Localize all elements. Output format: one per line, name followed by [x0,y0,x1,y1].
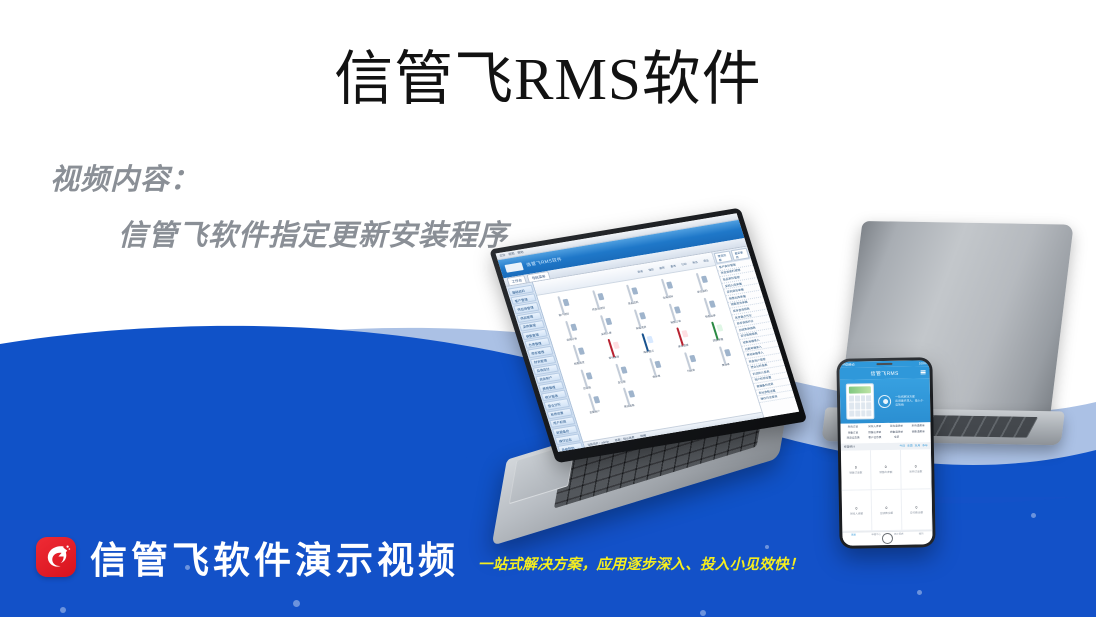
module-icon[interactable]: 营业报表 [608,386,646,411]
phone-earpiece [876,363,892,365]
phone-module-item[interactable]: 销售退货单 [886,431,907,434]
phone-module-item[interactable]: 商品信息表 [843,438,864,441]
module-tile-icon [615,364,623,382]
module-icon[interactable]: 销售退货 [558,343,596,368]
phone-module-item[interactable]: 销售出库单 [864,432,885,435]
module-tile-icon [677,328,685,346]
module-tile-icon [642,333,650,351]
range-year[interactable]: 本年 [922,444,928,448]
menu-help[interactable]: 帮助 [517,250,524,254]
module-icon[interactable]: 收款单 [635,356,673,381]
module-tile-icon [592,290,600,308]
module-icon[interactable]: 库存查询 [593,338,631,363]
phone-module-grid: 采购订单 采购入库单 采购退货单 采购退款单 销售订单 销售出库单 销售退货单 … [840,422,930,443]
module-tile-icon [669,303,677,321]
phone-hero-banner: 一站式解决方案 应用逐步深入、投入小见效快 [840,378,931,424]
app-logo-icon [504,262,523,272]
stat-cell: 0销售出库额 [871,450,902,491]
module-icon[interactable]: 职员资料 [681,271,719,296]
module-tile-icon [588,394,596,412]
stat-cell: 0采购订单数 [901,449,932,490]
phone-module-item[interactable]: 采购入库单 [864,426,885,429]
module-tile-icon [696,273,704,291]
module-icon[interactable]: 付款单 [670,350,708,375]
phone-battery: 100% [919,361,927,365]
bottom-banner: 信管飞软件演示视频 一站式解决方案，应用逐步深入、投入小见效快！ [0,497,1096,617]
thumbnail-grid [849,395,872,417]
module-icon[interactable]: 资金账户 [573,392,611,417]
range-week[interactable]: 本周 [907,444,913,448]
module-icon[interactable]: 库存盘点 [627,332,665,357]
hamburger-menu-icon[interactable] [921,370,926,374]
toolbar-button-search[interactable]: 查询 [669,263,677,268]
module-icon[interactable]: 调拨单据 [697,320,735,345]
range-today[interactable]: 今日 [899,444,905,448]
primary-laptop: 文件 视图 帮助 信管飞RMS软件 工作台 导航菜单 基础资 [481,216,796,521]
video-content-value: 信管飞软件指定更新安装程序 [118,216,508,257]
module-tile-icon [650,358,658,376]
module-icon[interactable]: 客户资料 [543,295,581,320]
module-tile-icon [704,297,712,315]
module-icon[interactable]: 应收款 [566,368,604,393]
module-tile-icon [565,321,573,339]
slide-canvas: 信管飞RMS软件 视频内容： 信管飞软件指定更新安装程序 文件 视图 帮助 [0,0,1096,617]
menu-file[interactable]: 文件 [499,253,506,257]
module-tile-icon [684,352,692,370]
toolbar-button-edit[interactable]: 修改 [647,267,655,272]
banner-tagline: 一站式解决方案，应用逐步深入、投入小见效快！ [478,553,804,574]
status-state: 就绪 [640,433,647,438]
module-icon[interactable]: 费用单 [704,345,742,370]
phone-stats-title: 经营统计 [844,445,855,449]
module-icon[interactable]: 商品资料 [612,283,650,308]
module-tile-icon [607,339,615,357]
phone-app-header: 信管飞RMS [840,366,930,380]
phone-module-item[interactable]: 采购订单 [843,426,864,429]
banner-brand-text: 信管飞软件演示视频 [90,530,459,584]
phone-module-item[interactable]: 采购退款单 [908,425,929,428]
module-tile-icon [623,388,631,406]
module-icon[interactable]: 采购订单 [550,319,588,344]
range-month[interactable]: 本月 [915,444,921,448]
toolbar-button-add[interactable]: 新增 [636,269,644,274]
video-content-label: 视频内容： [50,160,508,201]
page-title: 信管飞RMS软件 [0,43,1096,115]
module-icon[interactable]: 仓库资料 [647,277,685,302]
thumbnail-header-bar [849,386,871,393]
video-content-block: 视频内容： 信管飞软件指定更新安装程序 [50,160,508,257]
module-tile-icon [557,296,565,314]
module-tile-icon [711,322,719,340]
laptop-screen: 文件 视图 帮助 信管飞RMS软件 工作台 导航菜单 基础资 [496,213,800,452]
menu-view[interactable]: 视图 [508,252,515,256]
phone-range-pills: 今日 本周 本月 本年 [899,444,928,448]
phone-module-item[interactable]: 销售退款单 [908,431,929,434]
toolbar-button-exit[interactable]: 退出 [702,258,710,263]
module-tile-icon [719,346,727,364]
module-icon[interactable]: 应付款 [600,362,638,387]
phone-module-item[interactable]: 全部 [886,437,907,440]
toolbar-button-export[interactable]: 导出 [691,259,699,264]
module-icon[interactable]: 采购退货 [620,307,658,332]
module-tile-icon [627,285,635,303]
phone-carrier: 中国移动 [842,363,854,367]
module-icon[interactable]: 供应商资料 [577,289,615,314]
stat-cell: 0销售订单数 [841,450,872,491]
phone-banner-line2: 应用逐步深入、投入小见效快 [895,398,923,406]
phone-module-item[interactable]: 客户信息表 [864,437,885,440]
module-tile-icon [634,309,642,327]
screenshot-thumbnail [846,383,875,419]
module-tile-icon [661,279,669,297]
app-header-caption: 信管飞RMS软件 [526,256,563,268]
module-icon[interactable]: 库存调拨 [662,326,700,351]
phone-module-item[interactable]: 采购退货单 [886,426,907,429]
play-badge-icon [878,394,891,407]
toolbar-button-delete[interactable]: 删除 [658,265,666,270]
module-icon-grid: 客户资料 供应商资料 商品资料 仓库资料 职员资料 采购订单 采购入库 采购退货… [537,266,755,423]
feiyun-logo-icon [36,537,76,577]
status-user: 当前用户：admin [587,439,610,446]
phone-app-title: 信管飞RMS [871,369,899,376]
module-tile-icon [580,369,588,387]
phone-module-item[interactable]: 销售订单 [843,432,864,435]
status-book: 账套：默认账套 [614,435,635,442]
phone-banner-text: 一站式解决方案 应用逐步深入、投入小见效快 [895,394,924,407]
primary-laptop-lid: 文件 视图 帮助 信管飞RMS软件 工作台 导航菜单 基础资 [489,208,807,464]
module-icon[interactable]: 销售出库 [689,296,727,321]
module-tile-icon [573,345,581,363]
module-icon[interactable]: 销售订单 [654,302,692,327]
module-icon[interactable]: 采购入库 [585,313,623,338]
module-tile-icon [600,315,608,333]
toolbar-button-print[interactable]: 打印 [680,261,688,266]
